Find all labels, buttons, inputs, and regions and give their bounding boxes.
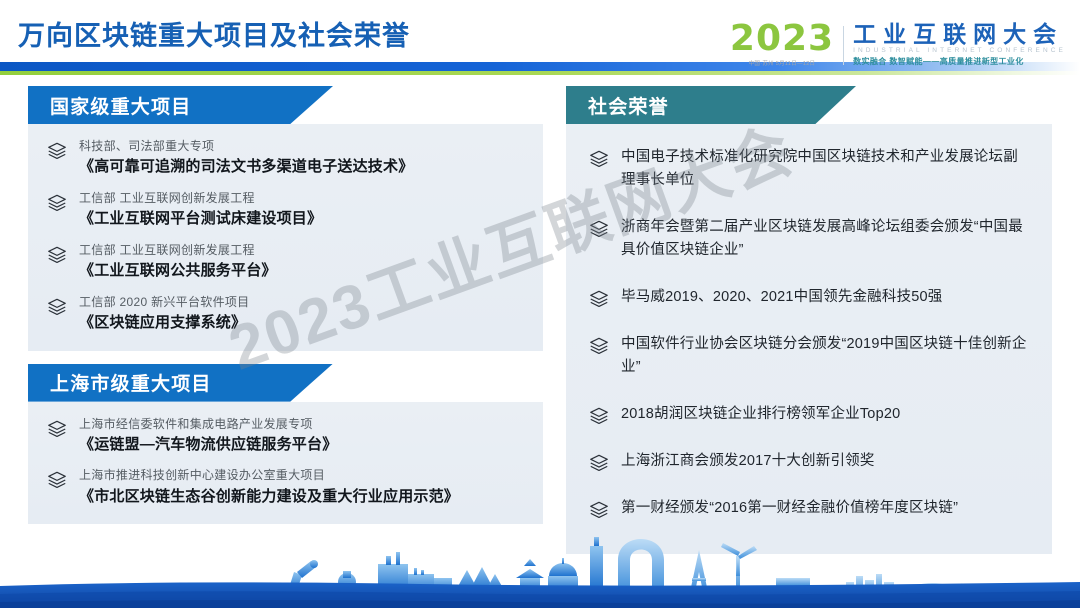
section-national-projects: 国家级重大项目 科技部、司法部重大专项 《高可靠可追溯的司法文书多渠道电子送达技… bbox=[28, 86, 543, 351]
footer-decoration bbox=[0, 516, 1080, 608]
list-item-text: 工信部 工业互联网创新发展工程 《工业互联网平台测试床建设项目》 bbox=[79, 190, 525, 231]
list-item-text: 科技部、司法部重大专项 《高可靠可追溯的司法文书多渠道电子送达技术》 bbox=[79, 138, 525, 179]
list-item: 工信部 工业互联网创新发展工程 《工业互联网公共服务平台》 bbox=[46, 242, 525, 283]
layers-icon bbox=[46, 244, 68, 266]
list-item: 上海浙江商会颁发2017十大创新引领奖 bbox=[588, 450, 1032, 474]
item-title: 《工业互联网平台测试床建设项目》 bbox=[79, 208, 525, 231]
list-item: 上海市推进科技创新中心建设办公室重大项目 《市北区块链生态谷创新能力建设及重大行… bbox=[46, 467, 525, 508]
item-title: 《高可靠可追溯的司法文书多渠道电子送达技术》 bbox=[79, 156, 525, 179]
item-title: 《工业互联网公共服务平台》 bbox=[79, 260, 525, 283]
honor-text: 上海浙江商会颁发2017十大创新引领奖 bbox=[621, 450, 875, 473]
item-subtitle: 上海市经信委软件和集成电路产业发展专项 bbox=[79, 416, 525, 433]
slide-root: 万向区块链重大项目及社会荣誉 2023 中国·苏州 5月11日—12日 工业互联… bbox=[0, 0, 1080, 608]
list-item: 科技部、司法部重大专项 《高可靠可追溯的司法文书多渠道电子送达技术》 bbox=[46, 138, 525, 179]
list-item: 浙商年会暨第二届产业区块链发展高峰论坛组委会颁发“中国最具价值区块链企业” bbox=[588, 216, 1032, 263]
logo-divider bbox=[843, 26, 844, 65]
logo-year-subtitle: 中国·苏州 5月11日—12日 bbox=[749, 59, 816, 67]
item-subtitle: 上海市推进科技创新中心建设办公室重大项目 bbox=[79, 467, 525, 484]
honor-text: 中国软件行业协会区块链分会颁发“2019中国区块链十佳创新企业” bbox=[621, 333, 1032, 380]
logo-year-block: 2023 中国·苏州 5月11日—12日 bbox=[730, 22, 834, 67]
layers-icon bbox=[588, 218, 610, 240]
list-item: 中国软件行业协会区块链分会颁发“2019中国区块链十佳创新企业” bbox=[588, 333, 1032, 380]
section-header-shanghai: 上海市级重大项目 bbox=[28, 364, 333, 402]
layers-icon bbox=[46, 296, 68, 318]
page-title: 万向区块链重大项目及社会荣誉 bbox=[18, 14, 410, 53]
honor-text: 中国电子技术标准化研究院中国区块链技术和产业发展论坛副理事长单位 bbox=[621, 146, 1032, 193]
item-subtitle: 工信部 2020 新兴平台软件项目 bbox=[79, 294, 525, 311]
logo-slogan: 数实融合 数智赋能——高质量推进新型工业化 bbox=[853, 56, 1066, 67]
layers-icon bbox=[46, 469, 68, 491]
header-green-bar bbox=[0, 71, 1080, 75]
conference-logo: 2023 中国·苏州 5月11日—12日 工业互联网大会 INDUSTRIAL … bbox=[730, 22, 1066, 67]
layers-icon bbox=[46, 192, 68, 214]
layers-icon bbox=[588, 405, 610, 427]
right-column: 社会荣誉 中国电子技术标准化研究院中国区块链技术和产业发展论坛副理事长单位 浙商… bbox=[566, 86, 1052, 554]
list-item: 工信部 2020 新兴平台软件项目 《区块链应用支撑系统》 bbox=[46, 294, 525, 335]
list-item: 中国电子技术标准化研究院中国区块链技术和产业发展论坛副理事长单位 bbox=[588, 146, 1032, 193]
section-body-shanghai: 上海市经信委软件和集成电路产业发展专项 《运链盟—汽车物流供应链服务平台》 上海… bbox=[28, 402, 543, 525]
list-item: 毕马威2019、2020、2021中国领先金融科技50强 bbox=[588, 286, 1032, 310]
layers-icon bbox=[588, 288, 610, 310]
list-item: 工信部 工业互联网创新发展工程 《工业互联网平台测试床建设项目》 bbox=[46, 190, 525, 231]
list-item-text: 上海市经信委软件和集成电路产业发展专项 《运链盟—汽车物流供应链服务平台》 bbox=[79, 416, 525, 457]
list-item-text: 工信部 2020 新兴平台软件项目 《区块链应用支撑系统》 bbox=[79, 294, 525, 335]
layers-icon bbox=[588, 452, 610, 474]
logo-name-cn: 工业互联网大会 bbox=[853, 22, 1066, 46]
left-column: 国家级重大项目 科技部、司法部重大专项 《高可靠可追溯的司法文书多渠道电子送达技… bbox=[28, 86, 543, 524]
section-title: 国家级重大项目 bbox=[50, 92, 191, 119]
layers-icon bbox=[46, 418, 68, 440]
item-title: 《运链盟—汽车物流供应链服务平台》 bbox=[79, 434, 525, 457]
layers-icon bbox=[588, 148, 610, 170]
item-subtitle: 工信部 工业互联网创新发展工程 bbox=[79, 190, 525, 207]
list-item-text: 工信部 工业互联网创新发展工程 《工业互联网公共服务平台》 bbox=[79, 242, 525, 283]
section-header-honors: 社会荣誉 bbox=[566, 86, 856, 124]
layers-icon bbox=[46, 140, 68, 162]
logo-name-en: INDUSTRIAL INTERNET CONFERENCE bbox=[853, 47, 1066, 54]
item-title: 《市北区块链生态谷创新能力建设及重大行业应用示范》 bbox=[79, 486, 525, 509]
section-header-national: 国家级重大项目 bbox=[28, 86, 333, 124]
section-body-honors: 中国电子技术标准化研究院中国区块链技术和产业发展论坛副理事长单位 浙商年会暨第二… bbox=[566, 124, 1052, 554]
honor-text: 浙商年会暨第二届产业区块链发展高峰论坛组委会颁发“中国最具价值区块链企业” bbox=[621, 216, 1032, 263]
item-subtitle: 科技部、司法部重大专项 bbox=[79, 138, 525, 155]
section-title: 社会荣誉 bbox=[588, 92, 669, 119]
section-shanghai-projects: 上海市级重大项目 上海市经信委软件和集成电路产业发展专项 《运链盟—汽车物流供应… bbox=[28, 364, 543, 525]
logo-text-block: 工业互联网大会 INDUSTRIAL INTERNET CONFERENCE 数… bbox=[853, 22, 1066, 67]
skyline-graphic bbox=[0, 516, 1080, 608]
layers-icon bbox=[588, 335, 610, 357]
honor-text: 2018胡润区块链企业排行榜领军企业Top20 bbox=[621, 403, 900, 426]
section-body-national: 科技部、司法部重大专项 《高可靠可追溯的司法文书多渠道电子送达技术》 工信部 工… bbox=[28, 124, 543, 351]
item-title: 《区块链应用支撑系统》 bbox=[79, 312, 525, 335]
logo-year: 2023 bbox=[730, 22, 834, 56]
list-item-text: 上海市推进科技创新中心建设办公室重大项目 《市北区块链生态谷创新能力建设及重大行… bbox=[79, 467, 525, 508]
list-item: 2018胡润区块链企业排行榜领军企业Top20 bbox=[588, 403, 1032, 427]
list-item: 上海市经信委软件和集成电路产业发展专项 《运链盟—汽车物流供应链服务平台》 bbox=[46, 416, 525, 457]
honor-text: 毕马威2019、2020、2021中国领先金融科技50强 bbox=[621, 286, 943, 309]
section-title: 上海市级重大项目 bbox=[50, 369, 212, 396]
item-subtitle: 工信部 工业互联网创新发展工程 bbox=[79, 242, 525, 259]
